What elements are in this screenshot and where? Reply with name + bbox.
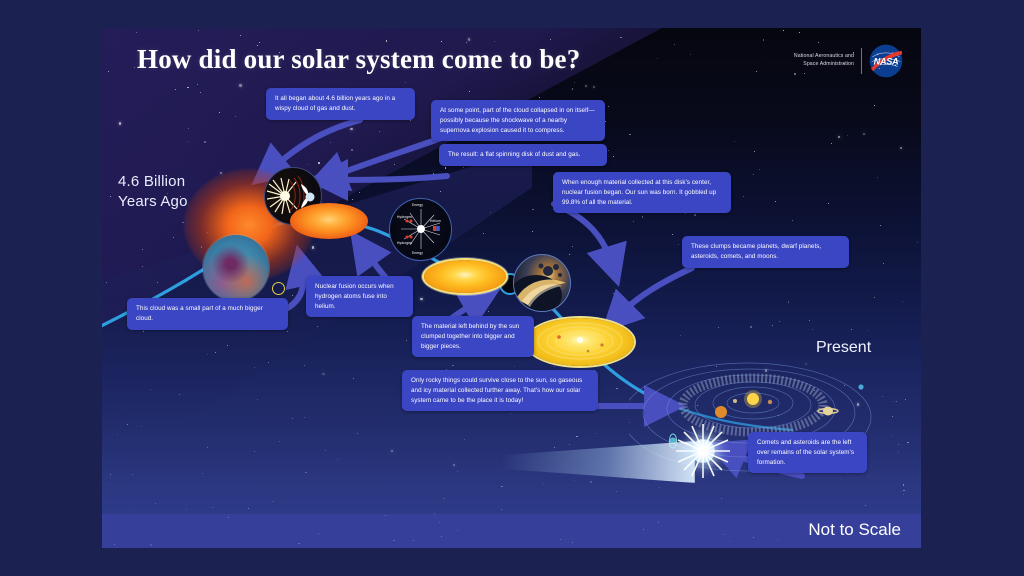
not-to-scale-note: Not to Scale [808,520,901,540]
callout-rocky-vs-icy: Only rocky things could survive close to… [402,370,598,411]
page-title: How did our solar system come to be? [137,44,580,75]
fusion-label-hydrogen-upper: Hydrogen [397,215,412,219]
fusion-label-energy-bottom: Energy [412,251,423,255]
molecular-cloud-image [203,235,269,301]
disk-rings [526,318,634,366]
callout-sun-born: When enough material collected at this d… [553,172,731,213]
callout-cloud-collapse: At some point, part of the cloud collaps… [431,100,605,141]
nasa-meatball-logo: NASA [869,44,903,78]
callout-clumping: The material left behind by the sun clum… [412,316,534,357]
timeline-start-label: 4.6 Billion Years Ago [118,172,188,213]
callout-bigger-cloud: This cloud was a small part of a much bi… [127,298,288,330]
callout-origin-cloud: It all began about 4.6 billion years ago… [266,88,415,120]
infographic-canvas: Energy Hydrogen Hydrogen Helium Energy [102,28,921,548]
protoplanetary-disk-yellow [424,260,506,293]
fusion-label-helium: Helium [430,219,441,223]
nasa-lockup: National Aeronautics and Space Administr… [794,44,903,78]
lockup-divider [861,48,862,74]
cloud-highlight-ring [272,282,285,295]
poster-frame: Energy Hydrogen Hydrogen Helium Energy [0,0,1024,576]
agency-name: National Aeronautics and Space Administr… [794,53,854,69]
comet-corona-icon [674,422,732,480]
callout-fusion-explainer: Nuclear fusion occurs when hydrogen atom… [306,276,413,317]
callout-comets-asteroids: Comets and asteroids are the left over r… [748,432,867,473]
callout-flat-disk: The result: a flat spinning disk of dust… [439,144,607,166]
svg-text:NASA: NASA [874,56,899,66]
fusion-label-energy-top: Energy [412,203,423,207]
callout-clumps-planets: These clumps became planets, dwarf plane… [682,236,849,268]
young-solar-system-disk [526,318,634,366]
protoplanetary-disk-orange [290,203,368,239]
impact-illustration-icon [514,255,570,311]
planetesimal-impact-inset [513,254,571,312]
nuclear-fusion-inset: Energy Hydrogen Hydrogen Helium Energy [389,198,452,261]
fusion-label-hydrogen-lower: Hydrogen [397,241,412,245]
timeline-present-label: Present [816,339,871,357]
